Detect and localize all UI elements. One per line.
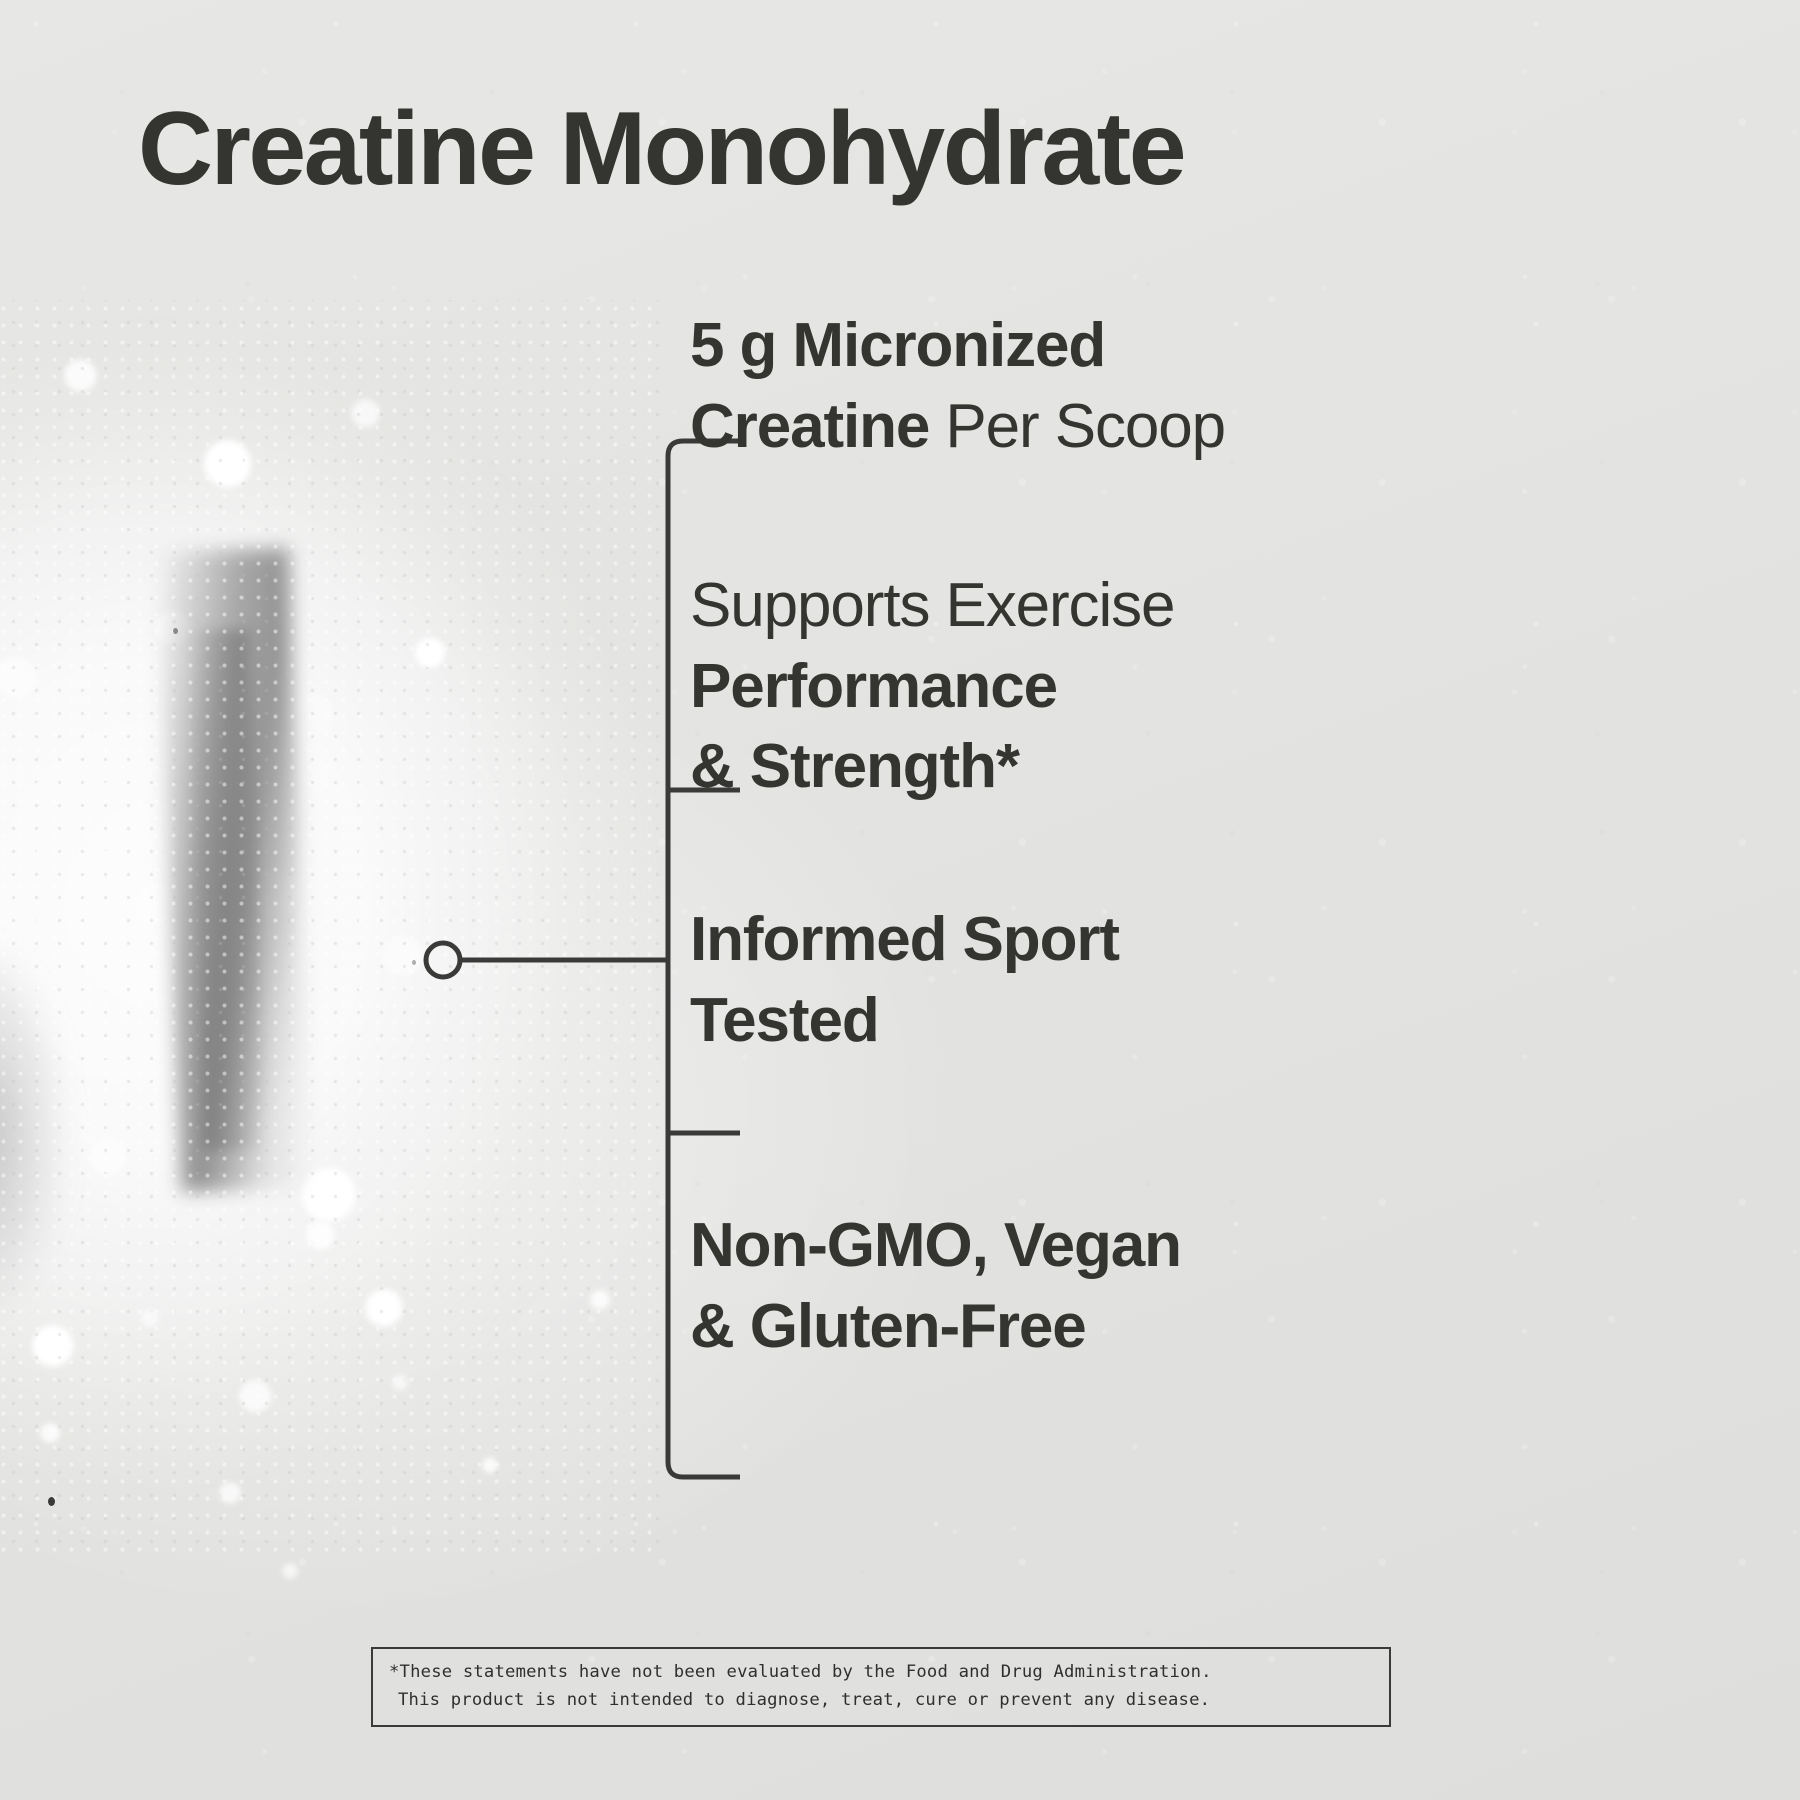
disclaimer-line-2: This product is not intended to diagnose…	[389, 1687, 1373, 1715]
feature-text-bold: Informed Sport	[690, 905, 1119, 974]
feature-line: Performance	[690, 647, 1450, 728]
feature-text-bold: 5 g Micronized	[690, 311, 1105, 380]
feature-text-bold: Performance	[690, 652, 1057, 721]
feature-text-light: Supports Exercise	[690, 571, 1174, 640]
feature-text-bold: Tested	[690, 986, 879, 1055]
feature-list: 5 g Micronized Creatine Per Scoop Suppor…	[0, 0, 1800, 1800]
fda-disclaimer-box: *These statements have not been evaluate…	[371, 1647, 1391, 1727]
feature-item-performance: Supports Exercise Performance & Strength…	[690, 566, 1450, 808]
feature-line: & Gluten-Free	[690, 1287, 1450, 1368]
feature-text-bold: Non-GMO, Vegan	[690, 1211, 1181, 1280]
feature-text-bold: & Gluten-Free	[690, 1292, 1086, 1361]
feature-text-bold: & Strength*	[690, 732, 1019, 801]
product-infographic: Creatine Monohydrate 5 g Micronized	[0, 0, 1800, 1800]
feature-line: & Strength*	[690, 727, 1450, 808]
disclaimer-line-1: *These statements have not been evaluate…	[389, 1659, 1373, 1687]
feature-item-informed-sport: Informed Sport Tested	[690, 900, 1450, 1061]
feature-line: 5 g Micronized	[690, 306, 1450, 387]
feature-line: Tested	[690, 981, 1450, 1062]
feature-line: Supports Exercise	[690, 566, 1450, 647]
feature-text-light: Per Scoop	[929, 392, 1225, 461]
feature-line: Non-GMO, Vegan	[690, 1206, 1450, 1287]
feature-line: Creatine Per Scoop	[690, 387, 1450, 468]
feature-item-dietary: Non-GMO, Vegan & Gluten-Free	[690, 1206, 1450, 1367]
feature-item-dose: 5 g Micronized Creatine Per Scoop	[690, 306, 1450, 467]
feature-line: Informed Sport	[690, 900, 1450, 981]
feature-text-bold: Creatine	[690, 392, 929, 461]
